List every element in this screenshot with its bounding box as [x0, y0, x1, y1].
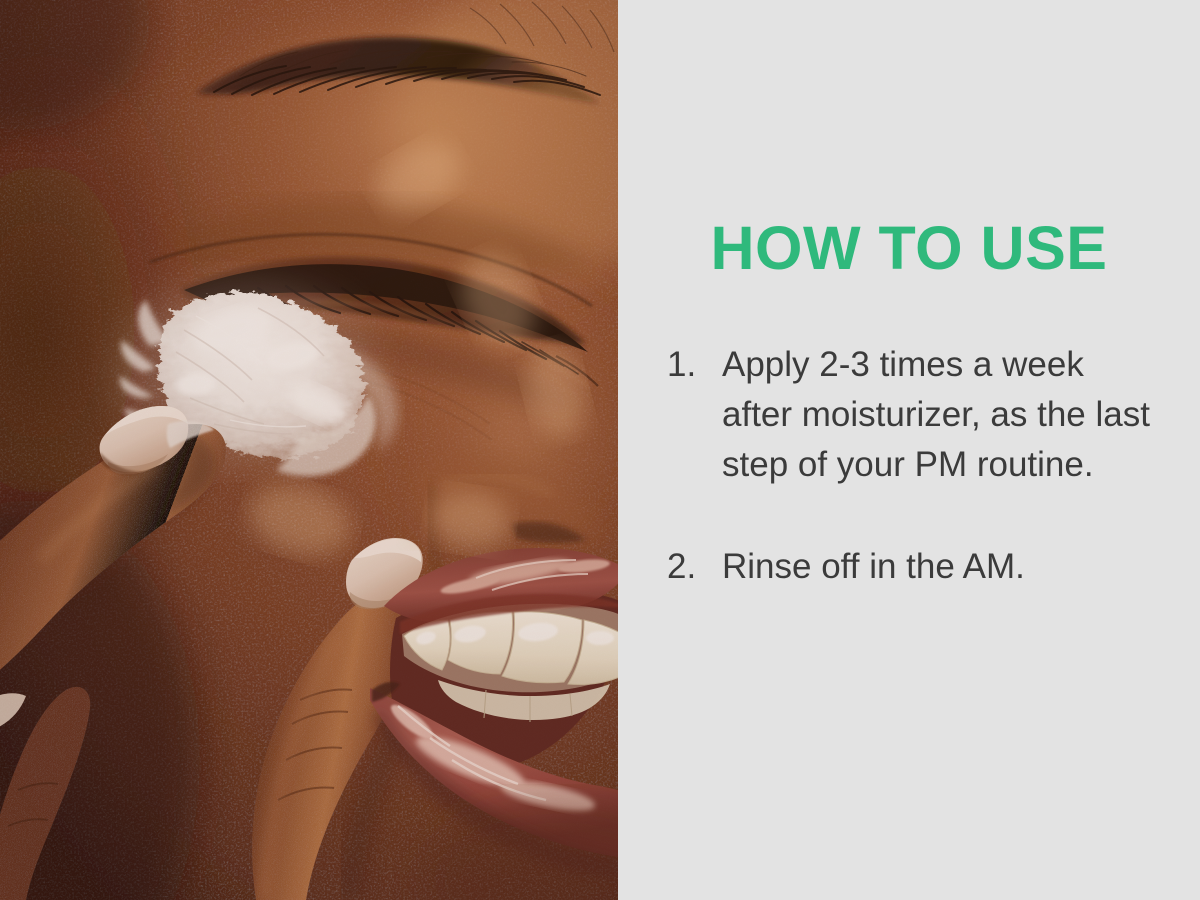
- step-text: Rinse off in the AM.: [722, 542, 1162, 592]
- instructions-panel: HOW TO USE 1. Apply 2-3 times a week aft…: [618, 0, 1200, 900]
- list-item: 2. Rinse off in the AM.: [667, 542, 1167, 592]
- page-title: HOW TO USE: [618, 218, 1200, 279]
- photo-illustration: [0, 0, 618, 900]
- step-number: 2.: [667, 542, 722, 592]
- how-to-use-graphic: HOW TO USE 1. Apply 2-3 times a week aft…: [0, 0, 1200, 900]
- step-text: Apply 2-3 times a week after moisturizer…: [722, 340, 1162, 490]
- list-item: 1. Apply 2-3 times a week after moisturi…: [667, 340, 1167, 490]
- product-usage-photo: [0, 0, 618, 900]
- usage-steps-list: 1. Apply 2-3 times a week after moisturi…: [667, 340, 1167, 592]
- step-number: 1.: [667, 340, 722, 390]
